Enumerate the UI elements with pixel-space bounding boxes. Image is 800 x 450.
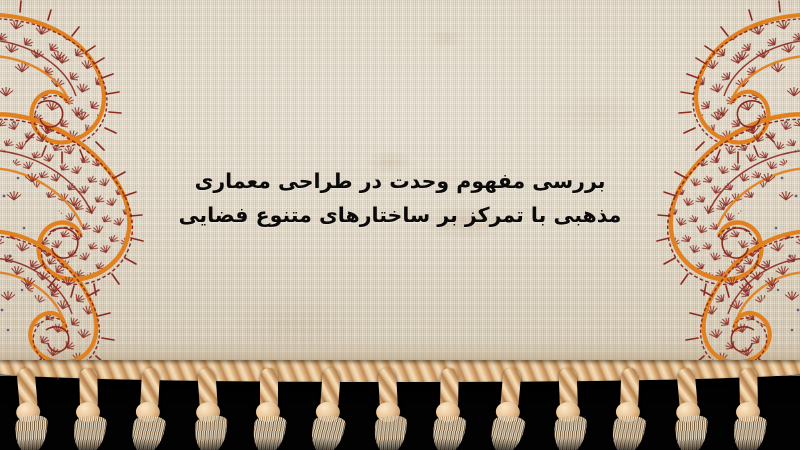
title-line-2: مذهبی با تمرکز بر ساختارهای متنوع فضایی bbox=[0, 198, 800, 232]
tassel-skirt bbox=[552, 415, 587, 450]
tassel-skirt bbox=[731, 416, 767, 450]
tassel bbox=[731, 368, 766, 450]
tassel bbox=[668, 367, 709, 450]
tassel bbox=[130, 367, 168, 450]
page-title: بررسی مفهوم وحدت در طراحی معماری مذهبی ب… bbox=[0, 164, 800, 232]
tassel-skirt bbox=[430, 416, 467, 450]
tassel-skirt bbox=[71, 416, 107, 450]
tassel bbox=[488, 367, 529, 450]
tassel-skirt bbox=[251, 416, 288, 450]
tassel bbox=[71, 368, 106, 450]
tassel-skirt bbox=[675, 414, 708, 450]
tassel-skirt bbox=[609, 416, 647, 450]
tassel-skirt bbox=[487, 415, 527, 450]
knotted-tassel-fringe bbox=[0, 352, 800, 450]
tassel bbox=[370, 367, 408, 450]
tassel bbox=[189, 367, 229, 450]
tassel-skirt bbox=[194, 415, 228, 450]
tassel-skirt bbox=[128, 415, 167, 450]
title-line-1: بررسی مفهوم وحدت در طراحی معماری bbox=[0, 164, 800, 198]
tassel-skirt bbox=[15, 414, 48, 450]
tassel bbox=[431, 368, 466, 450]
title-card-canvas: بررسی مفهوم وحدت در طراحی معماری مذهبی ب… bbox=[0, 0, 800, 450]
tassel-skirt bbox=[308, 415, 347, 450]
tassel bbox=[551, 367, 588, 450]
tassel bbox=[611, 367, 648, 450]
tassel bbox=[309, 367, 349, 450]
tassel-skirt bbox=[373, 415, 408, 450]
tassel bbox=[8, 367, 49, 450]
tassel bbox=[252, 368, 286, 450]
